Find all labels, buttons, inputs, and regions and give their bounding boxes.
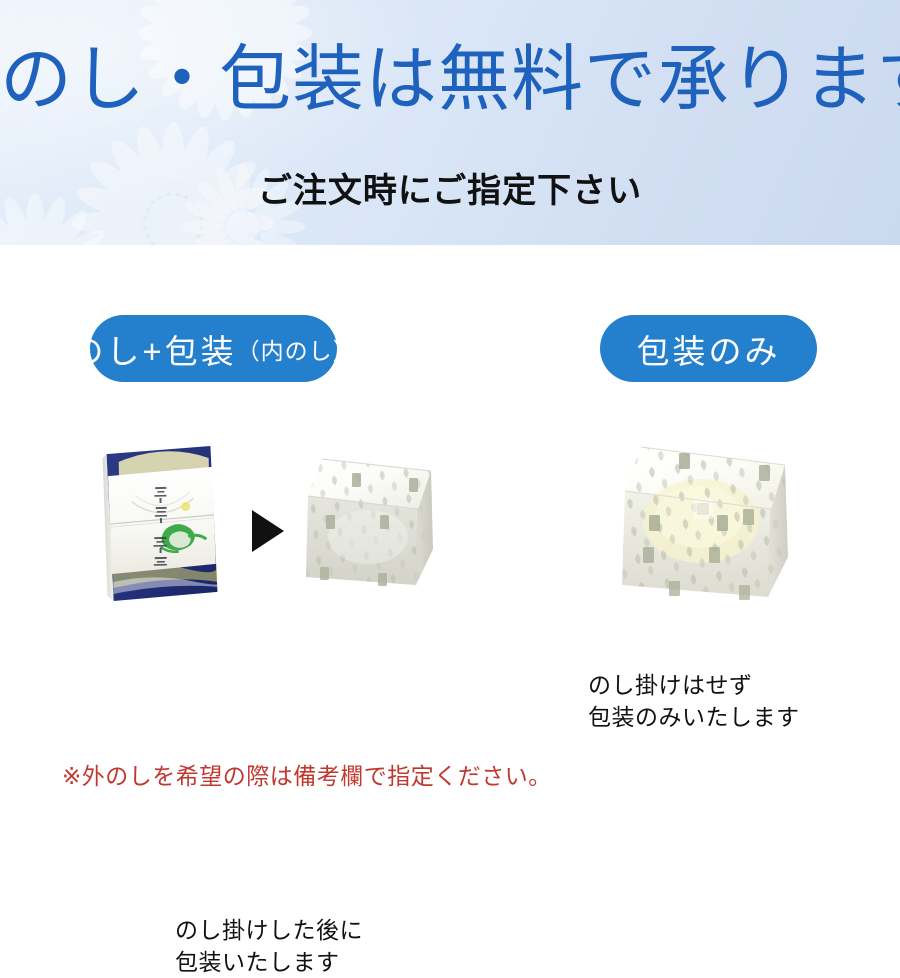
label-wrapping-only[interactable]: 包装のみ: [600, 315, 817, 382]
gift-box-wrapping-paper-image: [613, 439, 803, 617]
noshi-wrapped-gift-box-image: [98, 442, 223, 605]
options-area: のし+包装（内のし）: [0, 245, 900, 900]
banner-header: のし・包装は無料で承ります ご注文時にご指定下さい: [0, 0, 900, 245]
arrow-right-icon: [252, 510, 284, 552]
page-subtitle: ご注文時にご指定下さい: [0, 163, 900, 212]
noshi-wrapping-banner: のし・包装は無料で承ります ご注文時にご指定下さい のし+包装（内のし）: [0, 0, 900, 900]
pill-main-text: 包装のみ: [637, 325, 781, 373]
footnote-outer-noshi: ※外のしを希望の際は備考欄で指定ください。: [62, 757, 552, 791]
page-title: のし・包装は無料で承ります: [0, 44, 900, 116]
pill-sub-text: （内のし）: [237, 332, 357, 366]
caption-wrapping-only: のし掛けはせず 包装のみいたします: [588, 670, 800, 733]
photo-row-right: [470, 435, 900, 630]
gift-box-wrapping-paper-image: [300, 449, 445, 604]
caption-noshi-plus-wrapping: のし掛けした後に 包装いたします: [175, 915, 363, 978]
pill-main-text: のし+包装: [70, 325, 236, 373]
label-noshi-plus-wrapping[interactable]: のし+包装（内のし）: [90, 315, 337, 382]
photo-row-left: [0, 435, 470, 630]
